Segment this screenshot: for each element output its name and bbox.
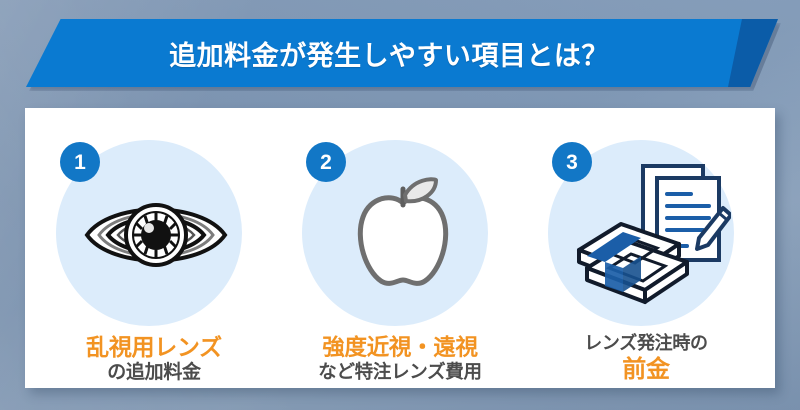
apple-icon — [348, 175, 458, 293]
caption-3: レンズ発注時の 前金 — [584, 333, 708, 384]
caption-2-line1: 強度近視・遠視 — [318, 334, 481, 361]
icon-zone-1: 1 — [56, 140, 252, 325]
caption-1: 乱視用レンズ の追加料金 — [86, 333, 222, 384]
caption-3-line1: レンズ発注時の — [584, 333, 708, 355]
caption-2: 強度近視・遠視 など特注レンズ費用 — [318, 334, 481, 384]
item-card-1: 1 — [31, 114, 277, 384]
number-badge-2: 2 — [306, 142, 346, 182]
eye-icon — [81, 193, 231, 277]
icon-zone-3: 3 — [548, 140, 744, 325]
content-card: 1 — [25, 108, 775, 388]
number-badge-3: 3 — [552, 142, 592, 182]
item-card-3: 3 — [523, 114, 769, 384]
items-row: 1 — [25, 108, 775, 388]
money-document-icon — [571, 158, 731, 308]
caption-1-line1: 乱視用レンズ — [86, 333, 222, 361]
header-banner: 追加料金が発生しやすい項目とは？ — [26, 19, 778, 87]
caption-2-line2: など特注レンズ費用 — [318, 361, 481, 384]
page-title: 追加料金が発生しやすい項目とは？ — [26, 19, 778, 87]
icon-zone-2: 2 — [302, 140, 498, 326]
caption-3-line2: 前金 — [584, 355, 708, 384]
caption-1-line2: の追加料金 — [86, 361, 222, 384]
number-badge-1: 1 — [60, 142, 100, 182]
item-card-2: 2 強度近視・遠視 など特注レンズ費用 — [277, 114, 523, 384]
